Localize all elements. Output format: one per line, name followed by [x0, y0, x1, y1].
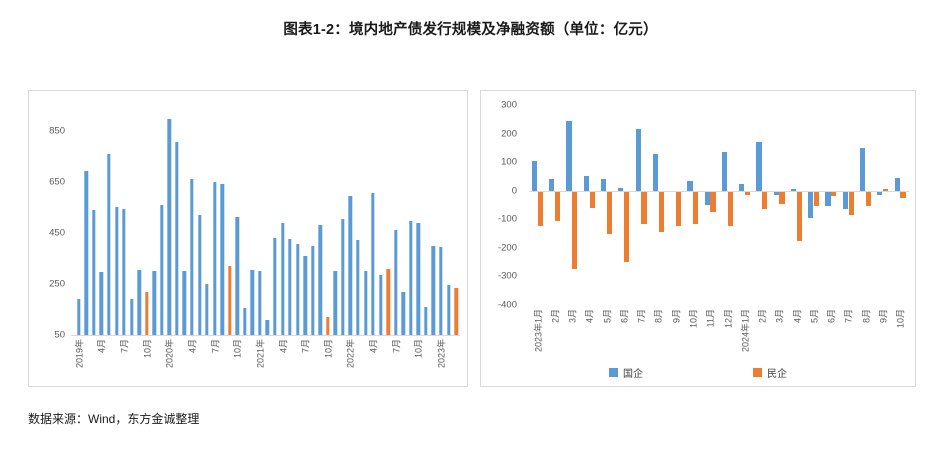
x-tick-label: 7月: [120, 337, 128, 385]
bar-private-enterprise: [849, 191, 854, 215]
bar-private-enterprise: [659, 191, 664, 232]
x-tick-label: 7月: [301, 337, 309, 385]
bar-private-enterprise: [326, 317, 329, 335]
bar-state-owned-enterprise: [175, 142, 178, 335]
bar-state-owned-enterprise: [319, 225, 322, 335]
bar-private-enterprise: [228, 266, 231, 335]
x-tick-label: [241, 337, 249, 385]
bar-slot: [369, 105, 377, 335]
x-tick-label: 10月: [143, 337, 151, 385]
right-chart-y-tick: 300: [501, 100, 517, 111]
legend-item-private[interactable]: 民企: [753, 365, 787, 380]
bar-group: [874, 105, 891, 305]
bar-state-owned-enterprise: [722, 152, 727, 191]
bar-state-owned-enterprise: [843, 191, 848, 210]
legend-label: 国企: [623, 365, 643, 380]
bar-state-owned-enterprise: [808, 191, 813, 218]
bar-slot: [347, 105, 355, 335]
x-tick-label: 2024年1月: [736, 307, 753, 361]
bar-group: [598, 105, 615, 305]
bar-state-owned-enterprise: [653, 154, 658, 191]
bar-state-owned-enterprise: [183, 271, 186, 335]
bar-private-enterprise: [454, 288, 457, 335]
bar-group: [615, 105, 632, 305]
bar-slot: [354, 105, 362, 335]
bar-state-owned-enterprise: [190, 179, 193, 335]
x-tick-label: [173, 337, 181, 385]
bar-slot: [415, 105, 423, 335]
bar-state-owned-enterprise: [160, 205, 163, 335]
bar-group: [546, 105, 563, 305]
x-tick-label: 10月: [892, 307, 909, 361]
bar-state-owned-enterprise: [409, 221, 412, 335]
bar-private-enterprise: [607, 191, 612, 234]
bar-slot: [233, 105, 241, 335]
square-swatch-icon: [609, 368, 618, 377]
x-tick-label: 10月: [233, 337, 241, 385]
x-tick-label: 5月: [805, 307, 822, 361]
right-chart-y-tick: 200: [501, 128, 517, 139]
x-tick-label: 2月: [546, 307, 563, 361]
bar-slot: [309, 105, 317, 335]
bar-slot: [317, 105, 325, 335]
bar-state-owned-enterprise: [281, 223, 284, 335]
bar-slot: [430, 105, 438, 335]
bar-state-owned-enterprise: [85, 171, 88, 335]
x-tick-label: 7月: [840, 307, 857, 361]
bar-slot: [158, 105, 166, 335]
x-tick-label: 2月: [753, 307, 770, 361]
bar-slot: [249, 105, 257, 335]
right-chart-x-labels: 2023年1月2月3月4月5月6月7月8月9月10月11月12月2024年1月2…: [529, 307, 909, 361]
bar-state-owned-enterprise: [243, 308, 246, 335]
left-chart-y-tick: 450: [49, 227, 65, 238]
bar-slot: [362, 105, 370, 335]
bar-slot: [422, 105, 430, 335]
bar-slot: [339, 105, 347, 335]
x-tick-label: 6月: [823, 307, 840, 361]
right-chart-y-tick: 100: [501, 157, 517, 168]
right-chart-y-tick: -100: [498, 214, 517, 225]
bar-state-owned-enterprise: [756, 142, 761, 191]
x-tick-label: 4月: [369, 337, 377, 385]
bar-state-owned-enterprise: [107, 154, 110, 335]
bar-group: [719, 105, 736, 305]
bar-slot: [392, 105, 400, 335]
bar-state-owned-enterprise: [220, 184, 223, 335]
bar-state-owned-enterprise: [122, 209, 125, 336]
bar-state-owned-enterprise: [213, 182, 216, 335]
bar-slot: [166, 105, 174, 335]
bar-state-owned-enterprise: [447, 285, 450, 335]
bar-slot: [400, 105, 408, 335]
left-chart-y-tick: 850: [49, 125, 65, 136]
bar-private-enterprise: [900, 191, 905, 198]
right-chart-y-tick: -200: [498, 242, 517, 253]
bar-state-owned-enterprise: [825, 191, 830, 207]
bar-state-owned-enterprise: [379, 275, 382, 335]
bar-state-owned-enterprise: [92, 210, 95, 335]
left-chart-y-tick: 250: [49, 278, 65, 289]
bar-group: [650, 105, 667, 305]
bar-slot: [324, 105, 332, 335]
bar-state-owned-enterprise: [356, 240, 359, 335]
bar-slot: [173, 105, 181, 335]
x-tick-label: 3月: [564, 307, 581, 361]
x-tick-label: 2019年: [75, 337, 83, 385]
x-tick-label: 4月: [188, 337, 196, 385]
left-chart-y-tick: 50: [54, 330, 65, 341]
bar-state-owned-enterprise: [439, 247, 442, 335]
bar-private-enterprise: [693, 191, 698, 224]
charts-row: 50250450650850 2019年4月7月10月2020年4月7月10月2…: [28, 90, 916, 387]
page-title: 图表1-2：境内地产债发行规模及净融资额（单位：亿元）: [0, 18, 941, 39]
bar-private-enterprise: [728, 191, 733, 227]
right-chart-zero-line: [529, 191, 909, 192]
bar-state-owned-enterprise: [636, 129, 641, 190]
bar-slot: [105, 105, 113, 335]
bar-group: [581, 105, 598, 305]
bar-slot: [377, 105, 385, 335]
bar-slot: [407, 105, 415, 335]
x-tick-label: 6月: [615, 307, 632, 361]
x-tick-label: 9月: [667, 307, 684, 361]
left-chart-x-labels: 2019年4月7月10月2020年4月7月10月2021年4月7月10月2022…: [75, 337, 460, 385]
bar-private-enterprise: [676, 191, 681, 227]
bar-state-owned-enterprise: [584, 176, 589, 190]
bar-slot: [294, 105, 302, 335]
bar-state-owned-enterprise: [417, 223, 420, 335]
bar-state-owned-enterprise: [198, 215, 201, 335]
bar-slot: [241, 105, 249, 335]
bar-state-owned-enterprise: [566, 121, 571, 191]
bar-state-owned-enterprise: [236, 217, 239, 335]
right-chart-y-tick: -400: [498, 300, 517, 311]
x-tick-label: [452, 337, 460, 385]
bar-slot: [286, 105, 294, 335]
bar-slot: [203, 105, 211, 335]
x-tick-label: 9月: [874, 307, 891, 361]
bar-slot: [279, 105, 287, 335]
bar-slot: [83, 105, 91, 335]
x-tick-label: 11月: [702, 307, 719, 361]
bar-state-owned-enterprise: [296, 244, 299, 335]
bar-state-owned-enterprise: [258, 271, 261, 335]
bar-slot: [143, 105, 151, 335]
bar-state-owned-enterprise: [266, 320, 269, 335]
x-tick-label: [309, 337, 317, 385]
legend: 国企民企: [481, 365, 915, 380]
bar-group: [684, 105, 701, 305]
x-tick-label: 2022年: [347, 337, 355, 385]
bar-state-owned-enterprise: [153, 271, 156, 335]
left-chart-plot-area: [75, 105, 460, 335]
bar-state-owned-enterprise: [349, 196, 352, 335]
bar-slot: [113, 105, 121, 335]
bar-state-owned-enterprise: [432, 246, 435, 335]
bar-slot: [332, 105, 340, 335]
x-tick-label: [105, 337, 113, 385]
bar-private-enterprise: [779, 191, 784, 204]
bar-slot: [135, 105, 143, 335]
legend-label: 民企: [767, 365, 787, 380]
bar-group: [771, 105, 788, 305]
bar-state-owned-enterprise: [402, 292, 405, 335]
x-tick-label: [286, 337, 294, 385]
bar-state-owned-enterprise: [705, 191, 710, 205]
bar-group: [892, 105, 909, 305]
bar-slot: [271, 105, 279, 335]
bar-group: [840, 105, 857, 305]
bar-private-enterprise: [572, 191, 577, 270]
bar-group: [805, 105, 822, 305]
bar-slot: [90, 105, 98, 335]
right-chart-y-axis: 3002001000-100-200-300-400: [481, 105, 525, 305]
square-swatch-icon: [753, 368, 762, 377]
bar-state-owned-enterprise: [532, 161, 537, 191]
bar-state-owned-enterprise: [288, 239, 291, 335]
bar-state-owned-enterprise: [205, 284, 208, 335]
bar-state-owned-enterprise: [273, 238, 276, 335]
bar-group: [529, 105, 546, 305]
x-tick-label: [400, 337, 408, 385]
x-tick-label: 7月: [211, 337, 219, 385]
x-tick-label: [83, 337, 91, 385]
x-tick-label: 8月: [650, 307, 667, 361]
bar-state-owned-enterprise: [371, 193, 374, 335]
x-tick-label: 10月: [415, 337, 423, 385]
x-tick-label: [354, 337, 362, 385]
x-tick-label: 7月: [633, 307, 650, 361]
bar-state-owned-enterprise: [549, 179, 554, 190]
x-tick-label: [445, 337, 453, 385]
x-tick-label: 2023年: [437, 337, 445, 385]
left-chart-y-axis: 50250450650850: [29, 105, 71, 335]
bar-private-enterprise: [386, 269, 389, 335]
bar-state-owned-enterprise: [601, 179, 606, 190]
chart-issuance-scale: 50250450650850 2019年4月7月10月2020年4月7月10月2…: [28, 90, 468, 387]
x-tick-label: 10月: [684, 307, 701, 361]
bar-state-owned-enterprise: [168, 119, 171, 335]
bar-slot: [445, 105, 453, 335]
bar-group: [633, 105, 650, 305]
bar-group: [702, 105, 719, 305]
bar-private-enterprise: [762, 191, 767, 210]
x-tick-label: 2020年: [166, 337, 174, 385]
x-tick-label: 7月: [392, 337, 400, 385]
x-tick-label: 2021年: [256, 337, 264, 385]
bar-state-owned-enterprise: [130, 299, 133, 335]
legend-item-state-owned[interactable]: 国企: [609, 365, 643, 380]
bar-slot: [120, 105, 128, 335]
x-tick-label: [332, 337, 340, 385]
x-tick-label: [128, 337, 136, 385]
bar-state-owned-enterprise: [251, 270, 254, 335]
bar-group: [736, 105, 753, 305]
bar-slot: [196, 105, 204, 335]
x-tick-label: 5月: [598, 307, 615, 361]
bar-slot: [226, 105, 234, 335]
left-chart-y-tick: 650: [49, 176, 65, 187]
bar-slot: [181, 105, 189, 335]
bar-private-enterprise: [797, 191, 802, 241]
bar-state-owned-enterprise: [115, 207, 118, 335]
x-tick-label: 2023年1月: [529, 307, 546, 361]
bar-slot: [452, 105, 460, 335]
x-tick-label: [218, 337, 226, 385]
bar-state-owned-enterprise: [394, 230, 397, 335]
right-chart-y-tick: -300: [498, 271, 517, 282]
bar-slot: [384, 105, 392, 335]
x-tick-label: [196, 337, 204, 385]
source-note: 数据来源：Wind，东方金诚整理: [28, 410, 199, 427]
bar-slot: [256, 105, 264, 335]
bar-slot: [98, 105, 106, 335]
x-tick-label: 4月: [581, 307, 598, 361]
x-tick-label: 10月: [324, 337, 332, 385]
x-tick-label: 4月: [98, 337, 106, 385]
x-tick-label: 8月: [857, 307, 874, 361]
bar-private-enterprise: [555, 191, 560, 221]
bar-slot: [188, 105, 196, 335]
bar-slot: [301, 105, 309, 335]
bar-private-enterprise: [538, 191, 543, 227]
x-tick-label: [150, 337, 158, 385]
bar-private-enterprise: [814, 191, 819, 207]
bar-state-owned-enterprise: [895, 178, 900, 191]
bar-state-owned-enterprise: [860, 148, 865, 191]
bar-private-enterprise: [866, 191, 871, 207]
x-tick-label: [422, 337, 430, 385]
bar-private-enterprise: [641, 191, 646, 224]
bar-state-owned-enterprise: [364, 271, 367, 335]
left-chart-axis-line: [71, 335, 460, 336]
bar-slot: [211, 105, 219, 335]
bar-group: [667, 105, 684, 305]
bar-slot: [437, 105, 445, 335]
bar-group: [788, 105, 805, 305]
x-tick-label: [264, 337, 272, 385]
bar-state-owned-enterprise: [687, 181, 692, 191]
chart-net-financing: 3002001000-100-200-300-400 2023年1月2月3月4月…: [480, 90, 916, 387]
x-tick-label: 4月: [279, 337, 287, 385]
bar-state-owned-enterprise: [424, 307, 427, 335]
bar-group: [857, 105, 874, 305]
right-chart-y-tick: 0: [512, 185, 517, 196]
bar-slot: [150, 105, 158, 335]
x-tick-label: 3月: [771, 307, 788, 361]
x-tick-label: [377, 337, 385, 385]
bar-private-enterprise: [590, 191, 595, 208]
bar-group: [564, 105, 581, 305]
bar-state-owned-enterprise: [311, 246, 314, 335]
bar-state-owned-enterprise: [303, 256, 306, 335]
bar-state-owned-enterprise: [77, 299, 80, 335]
bar-group: [823, 105, 840, 305]
bar-private-enterprise: [710, 191, 715, 212]
bar-private-enterprise: [145, 292, 148, 335]
x-tick-label: 12月: [719, 307, 736, 361]
bar-group: [753, 105, 770, 305]
x-tick-label: 4月: [788, 307, 805, 361]
bar-state-owned-enterprise: [100, 272, 103, 335]
bar-slot: [264, 105, 272, 335]
right-chart-plot-area: [529, 105, 909, 305]
bar-slot: [128, 105, 136, 335]
bar-slot: [75, 105, 83, 335]
bar-state-owned-enterprise: [137, 270, 140, 335]
bar-slot: [218, 105, 226, 335]
bar-state-owned-enterprise: [739, 184, 744, 191]
bar-state-owned-enterprise: [341, 219, 344, 335]
bar-state-owned-enterprise: [334, 271, 337, 335]
bar-private-enterprise: [624, 191, 629, 262]
